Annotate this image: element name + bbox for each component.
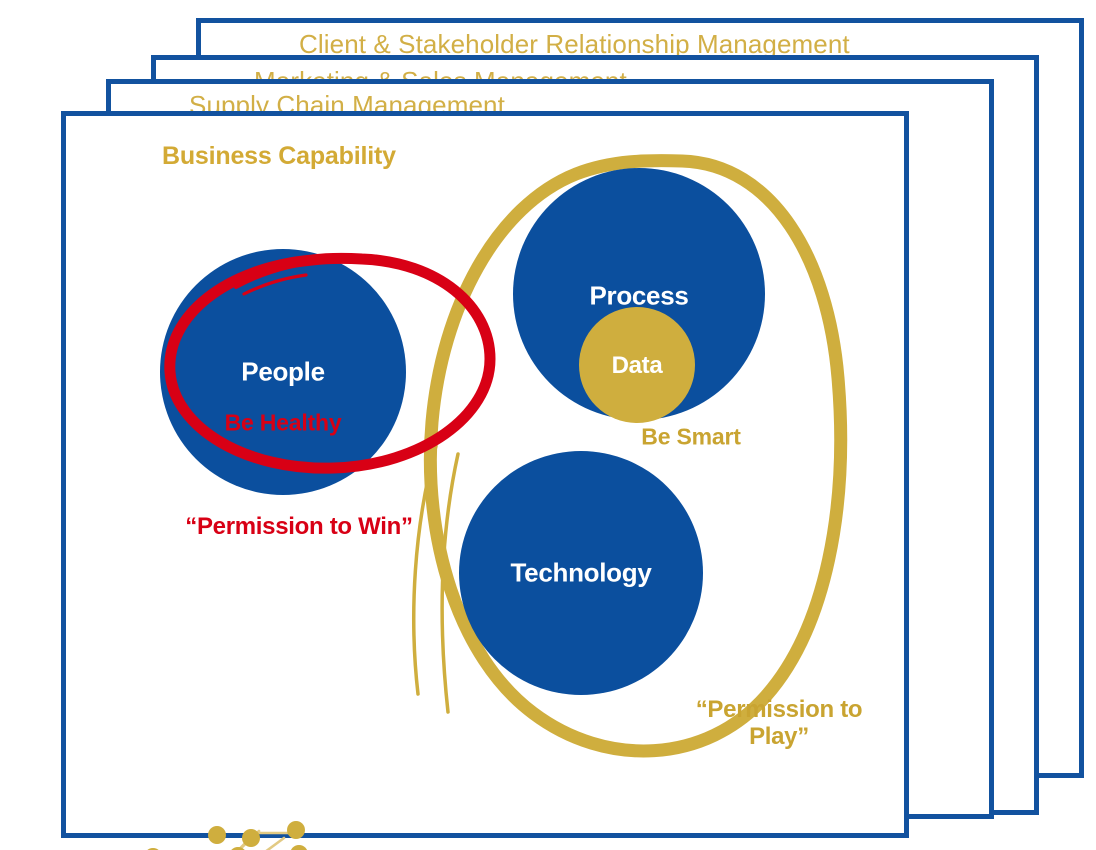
capability-card-business-capability[interactable]: Business Capability (61, 111, 909, 838)
technology-circle (459, 451, 703, 695)
people-circle (160, 249, 406, 495)
venn-diagram: People Be Healthy Process Data Technolog… (66, 116, 914, 843)
pragmatix-logo: pragmatiX Smart Solutions for a Digital … (141, 813, 471, 850)
circuit-icon (141, 813, 341, 850)
data-circle (579, 307, 695, 423)
slide-canvas: Client & Stakeholder Relationship Manage… (0, 0, 1096, 850)
